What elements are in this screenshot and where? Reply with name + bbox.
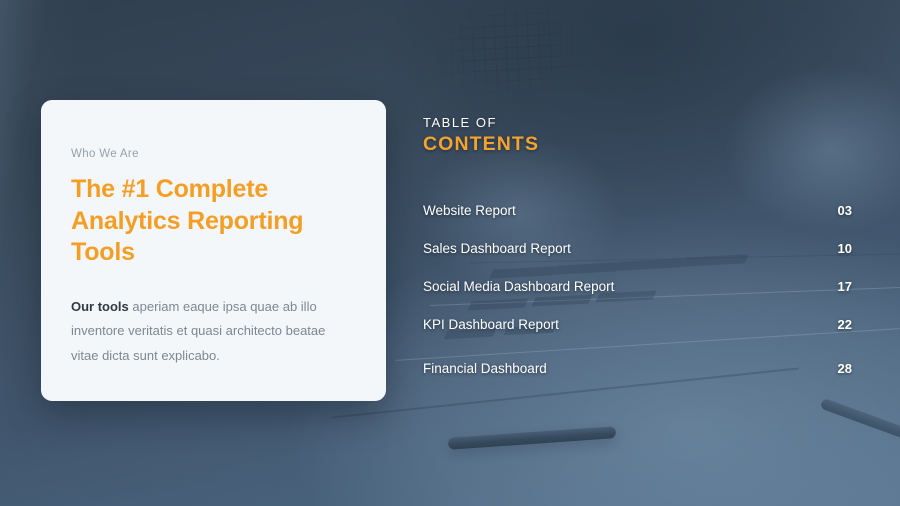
card-body-lead: Our tools bbox=[71, 299, 129, 314]
card-headline: The #1 Complete Analytics Reporting Tool… bbox=[71, 174, 346, 269]
table-of-contents: TABLE OF CONTENTS Website Report 03 Sale… bbox=[423, 116, 852, 399]
toc-entry-label: Sales Dashboard Report bbox=[423, 241, 571, 256]
toc-entry-financial-dashboard[interactable]: Financial Dashboard 28 bbox=[423, 361, 852, 399]
toc-entry-website-report[interactable]: Website Report 03 bbox=[423, 203, 852, 241]
toc-entry-page-number: 17 bbox=[838, 279, 852, 294]
presentation-slide: Who We Are The #1 Complete Analytics Rep… bbox=[0, 0, 900, 506]
toc-entry-page-number: 22 bbox=[838, 317, 852, 332]
toc-entry-kpi-dashboard-report[interactable]: KPI Dashboard Report 22 bbox=[423, 317, 852, 355]
toc-entry-page-number: 10 bbox=[838, 241, 852, 256]
toc-entry-sales-dashboard-report[interactable]: Sales Dashboard Report 10 bbox=[423, 241, 852, 279]
card-eyebrow: Who We Are bbox=[71, 148, 346, 160]
toc-list: Website Report 03 Sales Dashboard Report… bbox=[423, 203, 852, 399]
card-body-text: Our tools aperiam eaque ipsa quae ab ill… bbox=[71, 295, 346, 370]
toc-entry-label: Financial Dashboard bbox=[423, 361, 547, 376]
toc-kicker: TABLE OF bbox=[423, 116, 852, 130]
toc-entry-page-number: 28 bbox=[838, 361, 852, 376]
toc-entry-label: Website Report bbox=[423, 203, 516, 218]
toc-title: CONTENTS bbox=[423, 133, 852, 155]
who-we-are-card: Who We Are The #1 Complete Analytics Rep… bbox=[41, 100, 386, 401]
toc-entry-page-number: 03 bbox=[838, 203, 852, 218]
toc-entry-label: KPI Dashboard Report bbox=[423, 317, 559, 332]
toc-entry-social-media-dashboard-report[interactable]: Social Media Dashboard Report 17 bbox=[423, 279, 852, 317]
toc-entry-label: Social Media Dashboard Report bbox=[423, 279, 614, 294]
